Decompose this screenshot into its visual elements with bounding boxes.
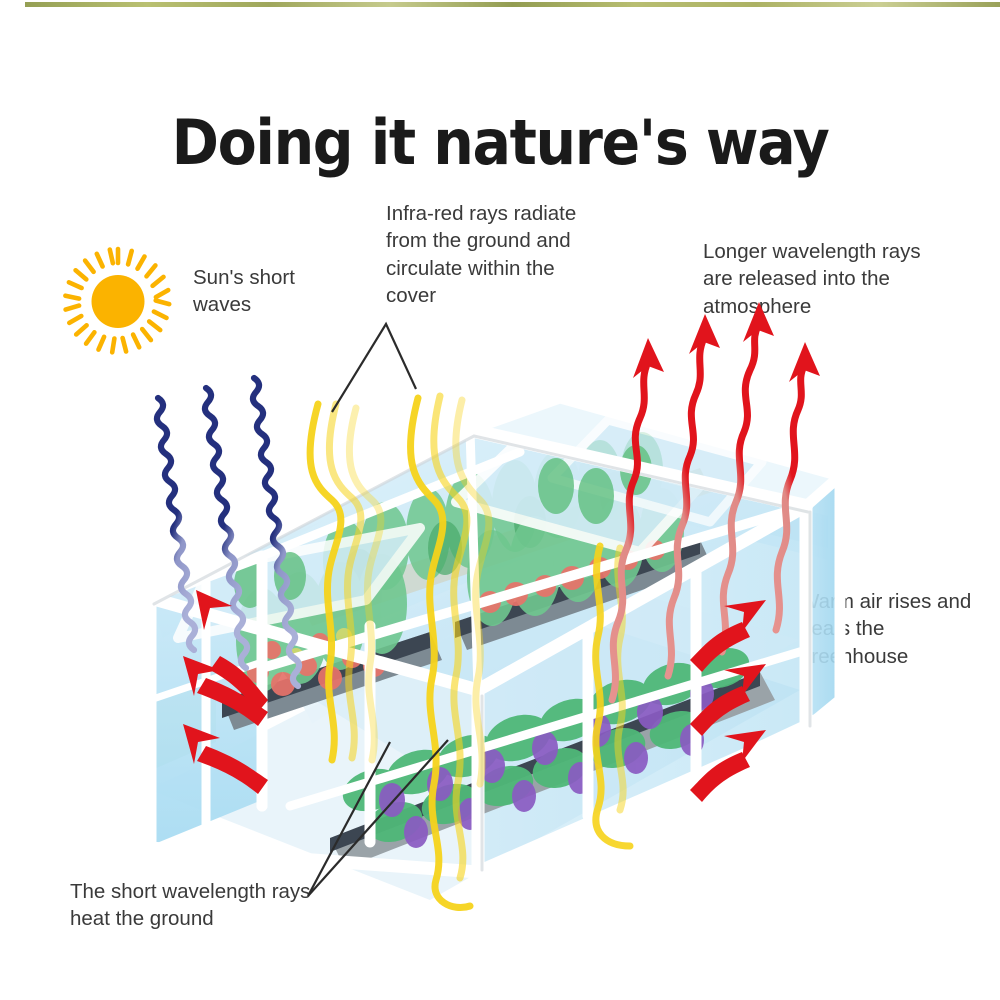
leader-line-infrared: [332, 324, 416, 412]
greenhouse-structure: [0, 0, 840, 900]
long-wavelength-arrowheads: [633, 302, 820, 382]
infographic-canvas: Doing it nature's way: [0, 0, 1000, 1000]
greenhouse-diagram: [0, 0, 1000, 1000]
